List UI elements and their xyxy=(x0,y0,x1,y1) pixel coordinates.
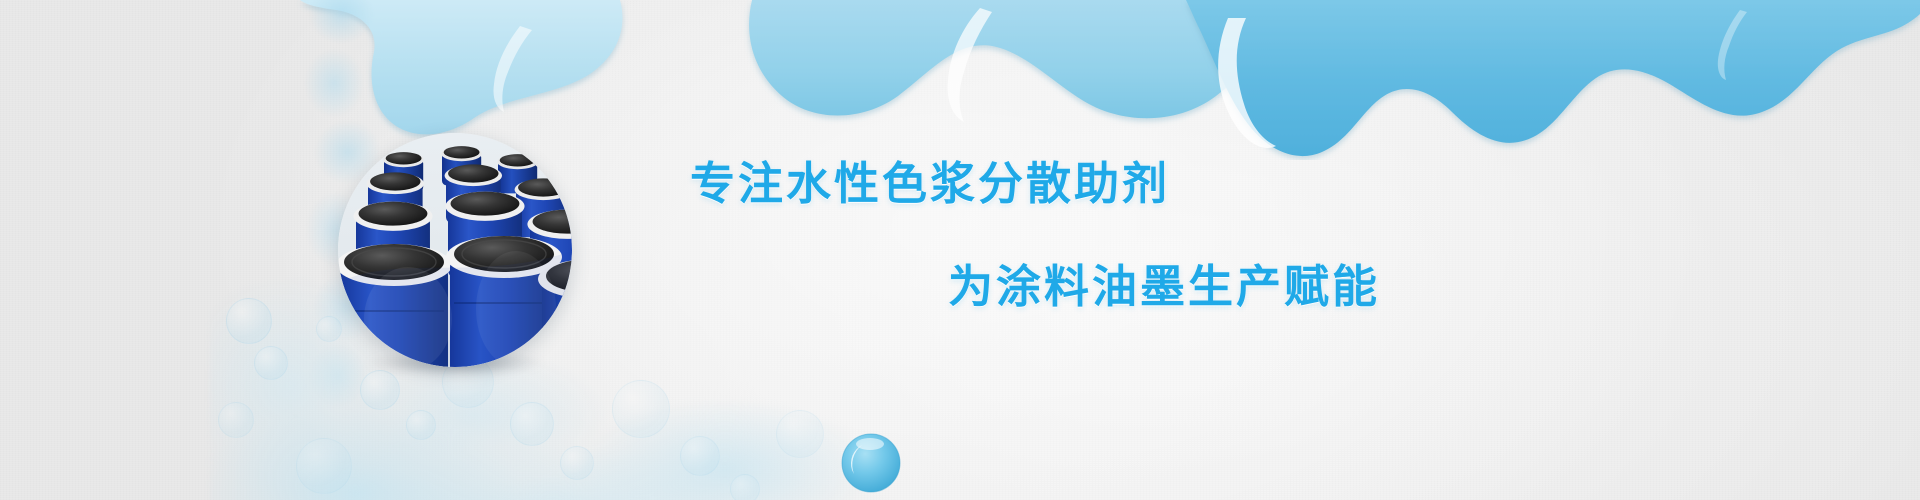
headline-line-1: 专注水性色浆分散助剂 xyxy=(690,160,1370,208)
blue-liquid-drip-icon xyxy=(0,0,1920,160)
blue-chemical-drums-photo xyxy=(338,133,572,367)
product-photo xyxy=(338,133,572,367)
headline-line-2: 为涂料油墨生产赋能 xyxy=(948,263,1370,311)
glossy-blue-bubble-icon xyxy=(840,432,902,494)
headline-block: 专注水性色浆分散助剂 为涂料油墨生产赋能 xyxy=(690,160,1370,310)
promo-banner: 专注水性色浆分散助剂 为涂料油墨生产赋能 xyxy=(0,0,1920,500)
drums-illustration-icon xyxy=(338,133,572,367)
